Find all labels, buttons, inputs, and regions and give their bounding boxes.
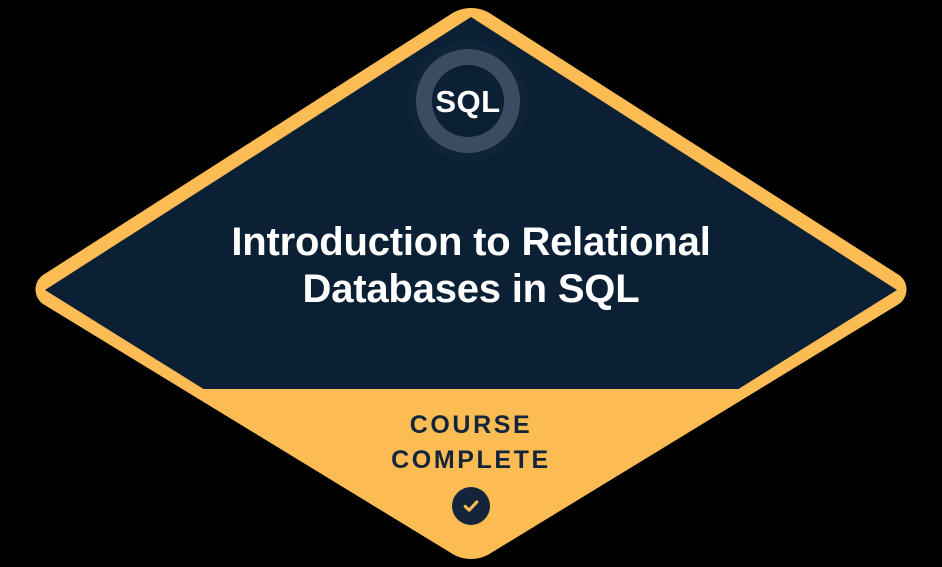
status-line-1: COURSE [221,408,721,443]
sql-emblem-circle: SQL [408,41,528,161]
badge-container: SQL Introduction to Relational Databases… [0,0,942,567]
course-title-line-2: Databases in SQL [60,266,882,313]
check-circle-icon [452,487,490,525]
emblem-label: SQL [435,86,500,117]
course-status: COURSE COMPLETE [221,408,721,525]
course-title: Introduction to Relational Databases in … [60,219,882,313]
course-title-line-1: Introduction to Relational [60,219,882,266]
status-line-2: COMPLETE [221,443,721,478]
